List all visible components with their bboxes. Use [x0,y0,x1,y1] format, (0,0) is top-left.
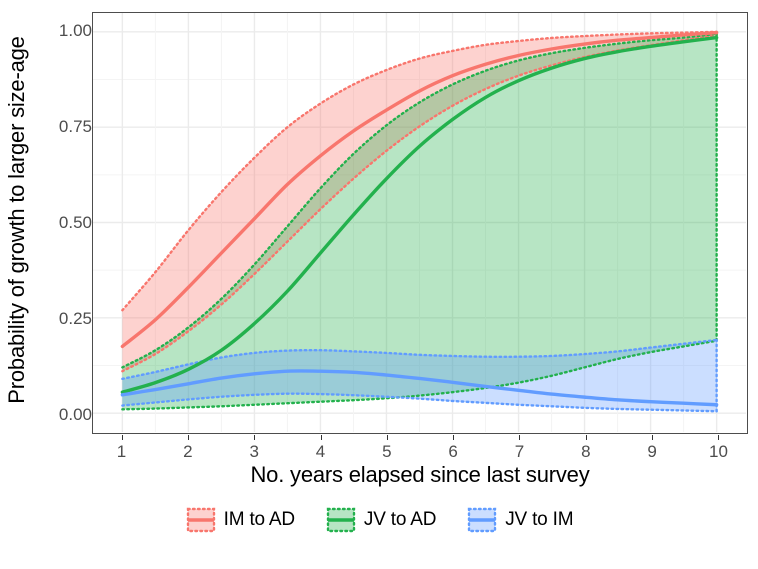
legend-item-jv-to-im[interactable]: JV to IM [466,505,573,535]
y-tick-label: 0.25 [46,309,92,329]
x-tick-mark [254,435,255,440]
plot-panel [92,12,748,434]
x-tick-mark [387,435,388,440]
x-tick-label: 10 [709,442,728,462]
x-tick-mark [652,435,653,440]
legend-key-swatch [466,505,498,535]
x-tick-label: 9 [647,442,656,462]
chart-legend: IM to ADJV to ADJV to IM [0,505,758,535]
x-tick-mark [321,435,322,440]
plot-area [93,13,746,432]
x-tick-label: 8 [581,442,590,462]
legend-key-swatch [185,505,217,535]
legend-item-jv-to-ad[interactable]: JV to AD [325,505,436,535]
y-tick-label: 0.00 [46,405,92,425]
legend-key-swatch [325,505,357,535]
x-tick-mark [586,435,587,440]
y-axis-title: Probability of growth to larger size-age [0,0,34,440]
legend-label: IM to AD [224,509,295,531]
x-tick-label: 1 [117,442,126,462]
legend-label: JV to AD [364,509,436,531]
y-axis: Probability of growth to larger size-age… [0,0,92,446]
x-tick-mark [718,435,719,440]
y-tick-label: 0.50 [46,213,92,233]
x-axis-title: No. years elapsed since last survey [92,462,748,488]
x-tick-mark [122,435,123,440]
legend-item-im-to-ad[interactable]: IM to AD [185,505,295,535]
chart-figure: Probability of growth to larger size-age… [0,0,758,569]
legend-label: JV to IM [505,509,573,531]
x-tick-label: 4 [316,442,325,462]
x-tick-mark [453,435,454,440]
x-tick-label: 2 [183,442,192,462]
y-tick-label: 1.00 [46,21,92,41]
x-tick-label: 7 [515,442,524,462]
x-tick-label: 6 [448,442,457,462]
y-tick-label: 0.75 [46,117,92,137]
x-tick-mark [519,435,520,440]
x-tick-label: 3 [249,442,258,462]
x-tick-label: 5 [382,442,391,462]
x-tick-mark [188,435,189,440]
